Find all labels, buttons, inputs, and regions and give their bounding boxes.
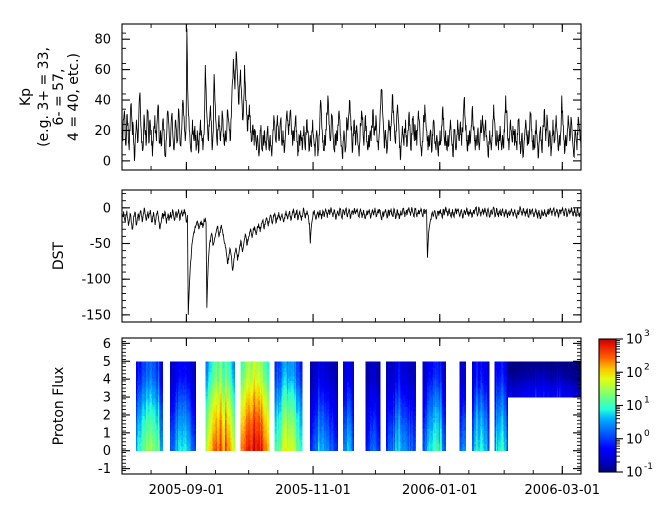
- heatmap-cell: [268, 449, 270, 452]
- y-tick-label: 80: [94, 33, 111, 48]
- plot-svg: 020406080 Kp (e.g. 3+ = 33, 6- = 57, 4 =…: [0, 0, 665, 523]
- y-tick-label: 40: [94, 94, 111, 109]
- heatmap-cell: [194, 449, 196, 452]
- dst-trace-group: [122, 206, 581, 315]
- kp-axis-label-line1: Kp: [18, 88, 34, 106]
- panel-kp: 020406080 Kp (e.g. 3+ = 33, 6- = 57, 4 =…: [18, 24, 581, 170]
- panel-proton-flux: -10123456 2005-09-012005-11-012006-01-01…: [51, 337, 600, 498]
- y-tick-label: 0: [103, 154, 111, 169]
- figure-root: 020406080 Kp (e.g. 3+ = 33, 6- = 57, 4 =…: [0, 0, 665, 523]
- heatmap-cell: [233, 449, 235, 452]
- y-tick-label: 0: [103, 201, 111, 216]
- heatmap-cell: [161, 449, 163, 452]
- proton-flux-heatmap: [136, 361, 582, 451]
- y-tick-label: 20: [94, 124, 111, 139]
- kp-y-ticks: 020406080: [94, 33, 581, 170]
- heatmap-cell: [301, 449, 303, 452]
- kp-trace-group: [122, 29, 581, 161]
- y-tick-label: -150: [81, 308, 111, 323]
- dst-data-trace: [122, 206, 581, 315]
- kp-axis-label-line2: (e.g. 3+ = 33,: [36, 47, 52, 147]
- kp-axis-label-line3: 6- = 57,: [51, 69, 67, 126]
- y-tick-label: 60: [94, 63, 111, 78]
- panel-dst: -150-100-500 DST: [51, 190, 581, 323]
- y-tick-label: -50: [90, 237, 111, 252]
- y-tick-label: -100: [81, 273, 111, 288]
- kp-axis-label-line4: 4 = 40, etc.): [66, 53, 82, 141]
- dst-y-ticks: -150-100-500: [81, 194, 581, 324]
- dst-axis-label: DST: [51, 241, 67, 270]
- kp-data-trace: [122, 29, 581, 161]
